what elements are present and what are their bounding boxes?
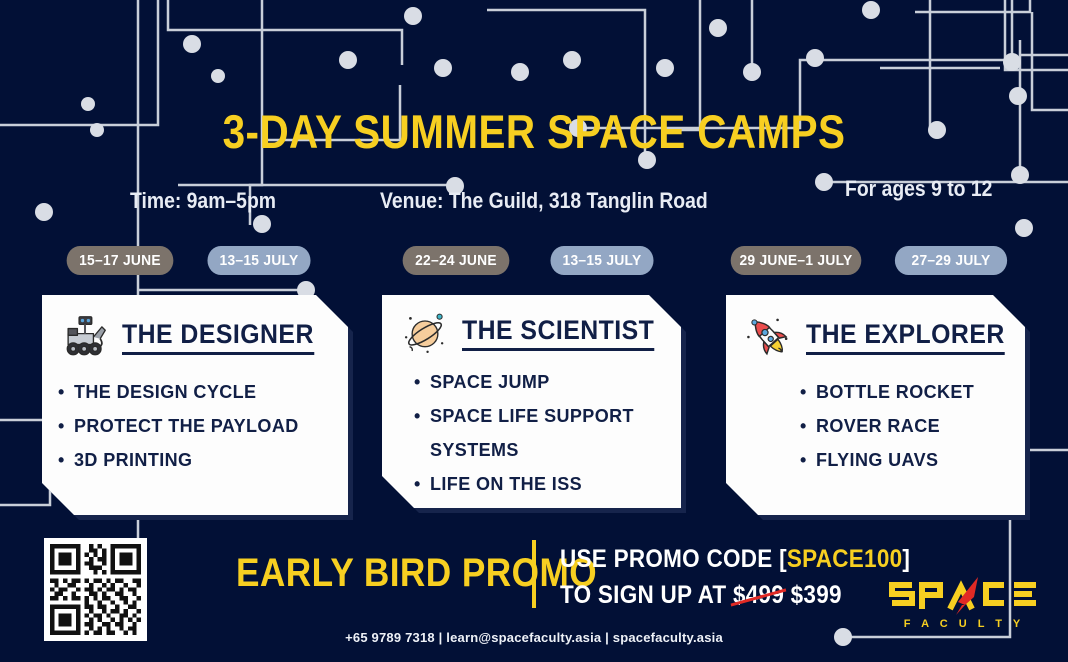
card-title-explorer: THE EXPLORER bbox=[806, 319, 1005, 355]
camp-card-explorer[interactable]: THE EXPLORER BOTTLE ROCKET ROVER RACE FL… bbox=[726, 295, 1025, 515]
activity-list-designer: THE DESIGN CYCLE PROTECT THE PAYLOAD 3D … bbox=[58, 375, 332, 477]
poster-root: 3-DAY SUMMER SPACE CAMPS Time: 9am–5pm V… bbox=[0, 0, 1068, 662]
promo-divider bbox=[532, 540, 536, 608]
logo-subword: F A C U L T Y bbox=[904, 618, 1024, 630]
ringed-planet-icon bbox=[398, 309, 452, 357]
card-header: THE DESIGNER bbox=[58, 313, 332, 361]
list-item: LIFE ON THE ISS bbox=[414, 467, 665, 501]
promo-code-value: SPACE100 bbox=[787, 545, 903, 573]
date-badge-designer-2: 13–15 JULY bbox=[207, 246, 310, 275]
promo-code-prefix: USE PROMO CODE [ bbox=[560, 545, 787, 573]
date-badge-scientist-1: 22–24 JUNE bbox=[403, 246, 510, 275]
card-header: THE EXPLORER bbox=[742, 313, 1009, 361]
rocket-icon bbox=[742, 313, 796, 361]
space-faculty-logo: F A C U L T Y bbox=[886, 575, 1042, 633]
list-item: ROVER RACE bbox=[800, 409, 1009, 443]
list-item: BOTTLE ROCKET bbox=[800, 375, 1009, 409]
card-header: THE SCIENTIST bbox=[398, 309, 665, 357]
camp-card-designer[interactable]: THE DESIGNER THE DESIGN CYCLE PROTECT TH… bbox=[42, 295, 348, 515]
promo-price-prefix: TO SIGN UP AT bbox=[560, 581, 733, 609]
date-badge-designer-1: 15–17 JUNE bbox=[67, 246, 174, 275]
list-item: THE DESIGN CYCLE bbox=[58, 375, 332, 409]
new-price: $399 bbox=[791, 581, 842, 609]
list-item: SPACE LIFE SUPPORT bbox=[414, 399, 665, 433]
list-item: PROTECT THE PAYLOAD bbox=[58, 409, 332, 443]
list-item: FLYING UAVS bbox=[800, 443, 1009, 477]
contact-line: +65 9789 7318 | learn@spacefaculty.asia … bbox=[0, 630, 1068, 645]
ages-label: For ages 9 to 12 bbox=[845, 176, 992, 202]
date-badge-explorer-2: 27–29 JULY bbox=[895, 246, 1007, 275]
card-title-designer: THE DESIGNER bbox=[122, 319, 314, 355]
list-item: SYSTEMS bbox=[414, 433, 665, 467]
list-item: SPACE JUMP bbox=[414, 365, 665, 399]
promo-title: EARLY BIRD PROMO bbox=[236, 551, 597, 596]
card-title-scientist: THE SCIENTIST bbox=[462, 315, 654, 351]
camp-card-scientist[interactable]: THE SCIENTIST SPACE JUMP SPACE LIFE SUPP… bbox=[382, 295, 681, 508]
activity-list-scientist: SPACE JUMP SPACE LIFE SUPPORT SYSTEMS LI… bbox=[398, 365, 665, 501]
promo-price-line: TO SIGN UP AT $499 $399 bbox=[560, 581, 842, 610]
date-badge-scientist-2: 13–15 JULY bbox=[550, 246, 653, 275]
mars-rover-icon bbox=[58, 313, 112, 361]
time-label: Time: 9am–5pm bbox=[130, 188, 276, 214]
qr-code[interactable] bbox=[44, 538, 147, 641]
promo-code-line: USE PROMO CODE [SPACE100] bbox=[560, 545, 910, 574]
list-item: 3D PRINTING bbox=[58, 443, 332, 477]
date-badge-explorer-1: 29 JUNE–1 JULY bbox=[731, 246, 862, 275]
activity-list-explorer: BOTTLE ROCKET ROVER RACE FLYING UAVS bbox=[742, 375, 1009, 477]
old-price: $499 bbox=[733, 581, 784, 610]
promo-code-suffix: ] bbox=[902, 545, 910, 573]
venue-label: Venue: The Guild, 318 Tanglin Road bbox=[380, 188, 708, 214]
page-title: 3-DAY SUMMER SPACE CAMPS bbox=[75, 104, 993, 159]
